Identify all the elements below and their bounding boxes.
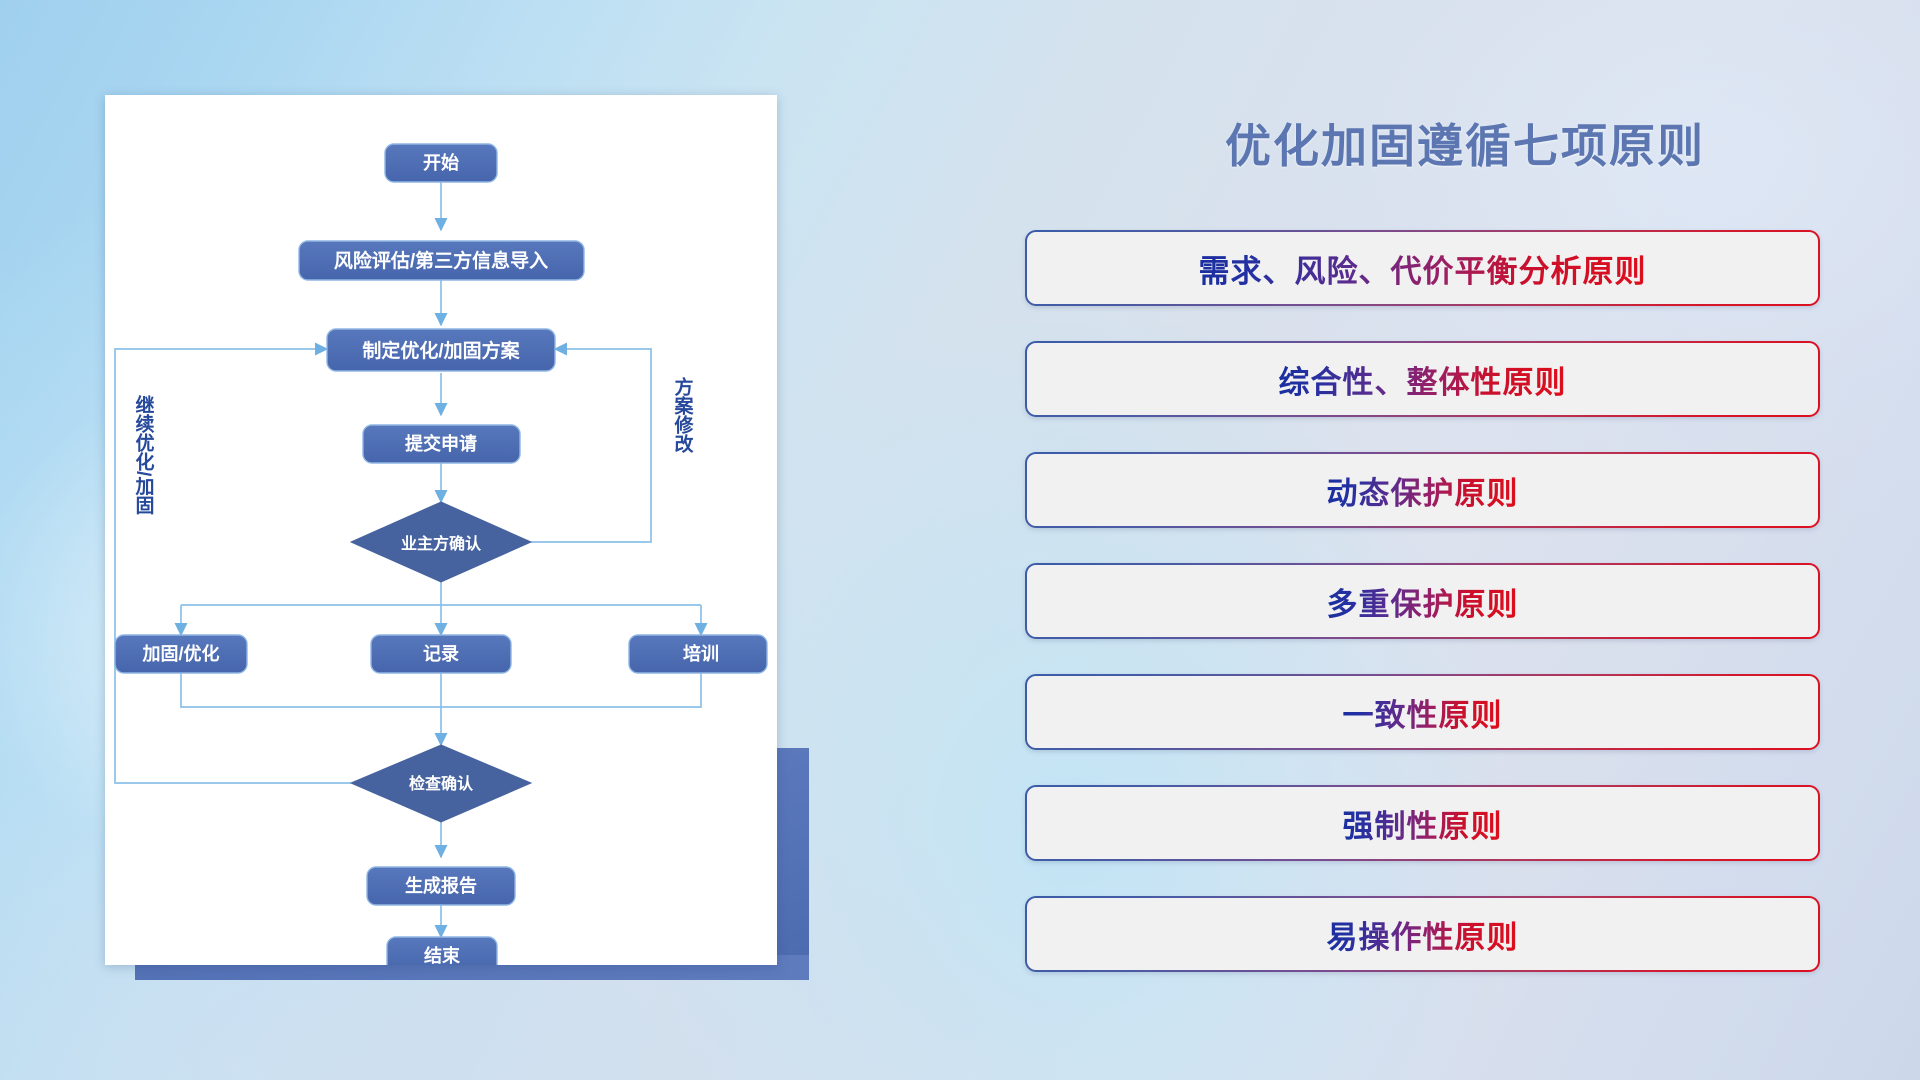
principle-card-7[interactable]: 易操作性原则 (1025, 896, 1820, 972)
principle-card-2-label: 综合性、整体性原则 (1279, 357, 1567, 402)
flowchart-panel: 开始 风险评估/第三方信息导入 制定优化/加固方案 提交申请 业主方确认 加固/… (0, 0, 820, 1080)
flowchart-diagram: 开始 风险评估/第三方信息导入 制定优化/加固方案 提交申请 业主方确认 加固/… (105, 95, 777, 965)
flow-node-submit-label: 提交申请 (405, 433, 477, 454)
flow-node-check-confirm-label: 检查确认 (409, 774, 474, 793)
principles-panel: 优化加固遵循七项原则 需求、风险、代价平衡分析原则 综合性、整体性原则 动态保护… (1010, 0, 1920, 1080)
flow-node-report[interactable]: 生成报告 (367, 867, 515, 905)
edge-label-plan-revision: 方案修改 (672, 376, 695, 454)
principle-card-5[interactable]: 一致性原则 (1025, 674, 1820, 750)
edge-right-loop-owner-to-plan (531, 349, 651, 542)
principles-list: 需求、风险、代价平衡分析原则 综合性、整体性原则 动态保护原则 多重保护原则 一… (1025, 230, 1820, 1007)
principle-card-2-inner: 综合性、整体性原则 (1027, 343, 1818, 415)
flow-node-record-label: 记录 (423, 644, 459, 664)
flow-node-end-label: 结束 (424, 945, 461, 965)
flow-node-reinforce[interactable]: 加固/优化 (115, 635, 247, 673)
flow-node-report-label: 生成报告 (405, 875, 477, 896)
principle-card-7-inner: 易操作性原则 (1027, 898, 1818, 970)
flow-node-plan[interactable]: 制定优化/加固方案 (327, 329, 555, 371)
principle-card-4-label: 多重保护原则 (1327, 579, 1519, 624)
principle-card-3-inner: 动态保护原则 (1027, 454, 1818, 526)
principle-card-4-inner: 多重保护原则 (1027, 565, 1818, 637)
principle-card-6[interactable]: 强制性原则 (1025, 785, 1820, 861)
flow-node-check-confirm[interactable]: 检查确认 (351, 745, 531, 822)
principle-card-6-inner: 强制性原则 (1027, 787, 1818, 859)
principle-card-3-label: 动态保护原则 (1327, 468, 1519, 513)
flow-node-risk-assessment[interactable]: 风险评估/第三方信息导入 (299, 241, 584, 280)
principle-card-5-label: 一致性原则 (1343, 690, 1503, 735)
flow-node-owner-confirm[interactable]: 业主方确认 (351, 502, 531, 582)
flow-node-start[interactable]: 开始 (385, 144, 497, 182)
flow-node-owner-confirm-label: 业主方确认 (401, 534, 482, 553)
flow-node-plan-label: 制定优化/加固方案 (362, 339, 520, 362)
principle-card-1-inner: 需求、风险、代价平衡分析原则 (1027, 232, 1818, 304)
edge-label-continue-optimize: 继续优化/加固 (133, 394, 156, 515)
principle-card-5-inner: 一致性原则 (1027, 676, 1818, 748)
flow-node-end[interactable]: 结束 (387, 937, 497, 965)
principle-card-7-label: 易操作性原则 (1327, 912, 1519, 957)
principle-card-1[interactable]: 需求、风险、代价平衡分析原则 (1025, 230, 1820, 306)
flow-node-train[interactable]: 培训 (629, 635, 767, 673)
principle-card-2[interactable]: 综合性、整体性原则 (1025, 341, 1820, 417)
flow-node-train-label: 培训 (683, 643, 719, 664)
principles-title: 优化加固遵循七项原则 (1010, 110, 1920, 176)
flow-node-record[interactable]: 记录 (371, 635, 511, 673)
flow-node-submit[interactable]: 提交申请 (363, 425, 520, 463)
flow-node-risk-assessment-label: 风险评估/第三方信息导入 (334, 249, 548, 272)
principle-card-1-label: 需求、风险、代价平衡分析原则 (1199, 246, 1647, 291)
principle-card-4[interactable]: 多重保护原则 (1025, 563, 1820, 639)
principle-card-6-label: 强制性原则 (1343, 801, 1503, 846)
flow-node-start-label: 开始 (423, 152, 459, 173)
principle-card-3[interactable]: 动态保护原则 (1025, 452, 1820, 528)
flow-node-reinforce-label: 加固/优化 (141, 643, 219, 664)
